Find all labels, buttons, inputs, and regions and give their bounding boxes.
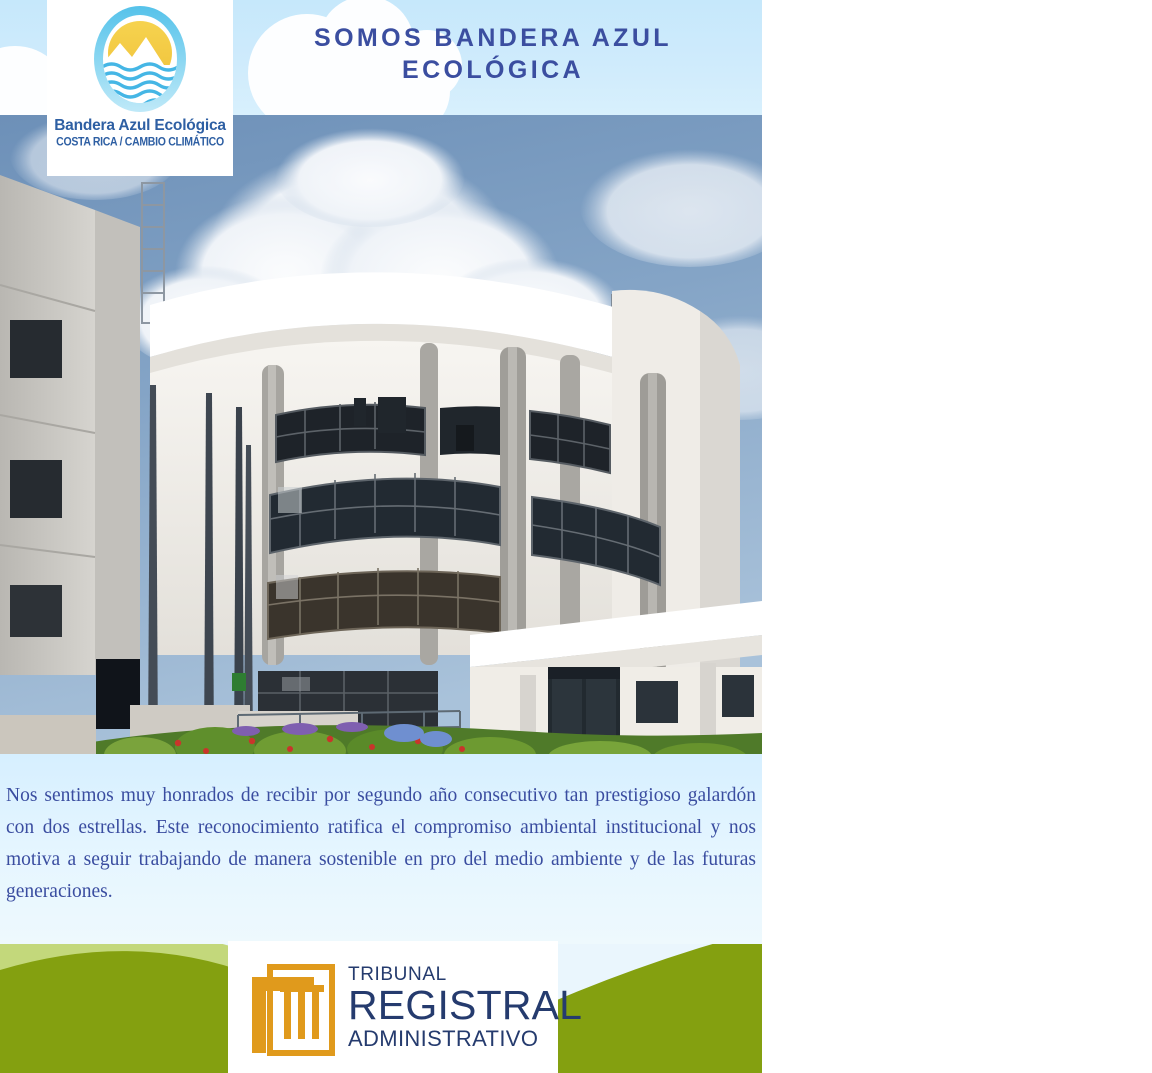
sun-mountains-waves-icon — [88, 3, 192, 115]
bandera-azul-logo-card: Bandera Azul Ecológica COSTA RICA / CAMB… — [47, 0, 233, 176]
page-title-line-2: ECOLÓGICA — [235, 54, 751, 86]
tra-logo-line-2: REGISTRAL — [348, 985, 582, 1026]
tra-logo-wordmark: TRIBUNAL REGISTRAL ADMINISTRATIVO — [348, 965, 582, 1050]
tra-logo-line-3: ADMINISTRATIVO — [348, 1028, 582, 1050]
body-paragraph: Nos sentimos muy honrados de recibir por… — [6, 780, 756, 908]
page-title: SOMOS BANDERA AZUL ECOLÓGICA — [235, 22, 751, 86]
slide-canvas: SOMOS BANDERA AZUL ECOLÓGICA — [0, 0, 762, 1073]
columns-building-icon — [242, 957, 338, 1057]
body-text-panel: Nos sentimos muy honrados de recibir por… — [0, 754, 762, 944]
building-photo-illustration — [0, 115, 762, 754]
page-title-line-1: SOMOS BANDERA AZUL — [235, 22, 751, 54]
tra-logo-line-1: TRIBUNAL — [348, 965, 582, 984]
tribunal-registral-administrativo-logo: TRIBUNAL REGISTRAL ADMINISTRATIVO — [228, 941, 558, 1073]
bandera-azul-logo-name: Bandera Azul Ecológica — [54, 117, 226, 135]
bandera-azul-logo-subtitle: COSTA RICA / CAMBIO CLIMÁTICO — [56, 135, 224, 149]
building-photo — [0, 115, 762, 754]
